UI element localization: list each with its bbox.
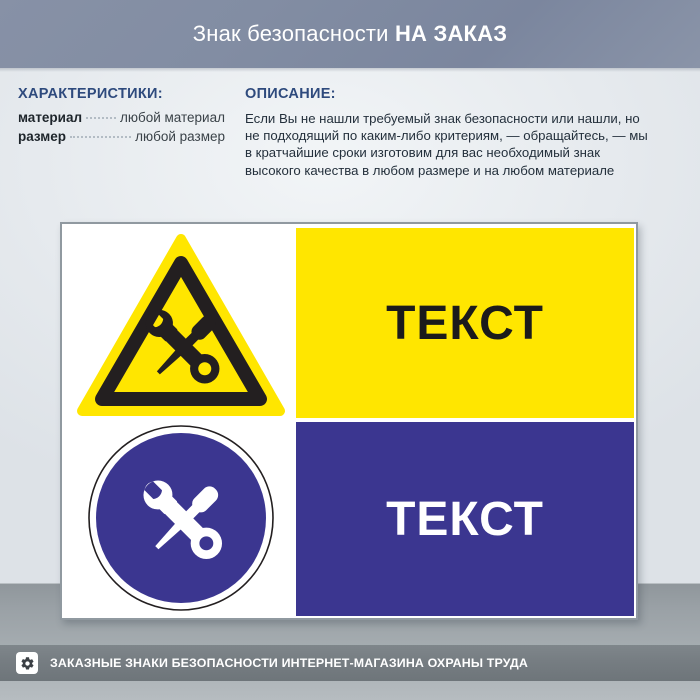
spec-leader-size	[70, 136, 131, 138]
sign-grid: ТЕКСТ ТЕКСТ	[62, 224, 636, 618]
page-header: Знак безопасности НА ЗАКАЗ	[0, 0, 700, 68]
tools-warning-icon	[76, 233, 286, 417]
blue-text-panel: ТЕКСТ	[296, 422, 634, 616]
page-title-regular: Знак безопасности	[193, 21, 395, 46]
info-section: ХАРАКТЕРИСТИКИ: материал любой материал …	[0, 86, 700, 179]
description-line-3: в кратчайшие сроки изготовим для вас нео…	[245, 144, 685, 161]
yellow-text-panel: ТЕКСТ	[296, 228, 634, 418]
poster-root: Знак безопасности НА ЗАКАЗ ХАРАКТЕРИСТИК…	[0, 0, 700, 700]
description-line-2: не подходящий по каким-либо критериям, —…	[245, 127, 685, 144]
footer-text: ЗАКАЗНЫЕ ЗНАКИ БЕЗОПАСНОСТИ ИНТЕРНЕТ-МАГ…	[50, 656, 528, 670]
page-footer: ЗАКАЗНЫЕ ЗНАКИ БЕЗОПАСНОСТИ ИНТЕРНЕТ-МАГ…	[0, 645, 700, 681]
specs-column: ХАРАКТЕРИСТИКИ: материал любой материал …	[0, 86, 225, 148]
circle-sign-cell	[70, 420, 292, 616]
yellow-panel-text: ТЕКСТ	[386, 296, 544, 351]
page-title-bold: НА ЗАКАЗ	[395, 21, 507, 46]
spec-row-size: размер любой размер	[18, 129, 225, 144]
gear-icon	[16, 652, 38, 674]
sign-preview-card: ТЕКСТ ТЕКСТ	[60, 222, 638, 620]
description-body: Если Вы не нашли требуемый знак безопасн…	[245, 110, 685, 179]
header-shadow	[0, 68, 700, 72]
description-column: ОПИСАНИЕ: Если Вы не нашли требуемый зна…	[225, 86, 685, 179]
page-title: Знак безопасности НА ЗАКАЗ	[193, 21, 507, 47]
description-line-4: высокого качества в любом размере и на л…	[245, 162, 685, 179]
spec-value-material: любой материал	[120, 110, 225, 125]
description-heading: ОПИСАНИЕ:	[245, 86, 685, 102]
spec-label-size: размер	[18, 129, 66, 144]
spec-label-material: материал	[18, 110, 82, 125]
spec-value-size: любой размер	[135, 129, 225, 144]
specs-heading: ХАРАКТЕРИСТИКИ:	[18, 86, 225, 102]
blue-panel-text: ТЕКСТ	[386, 492, 544, 547]
tools-mandatory-icon	[86, 423, 276, 613]
spec-row-material: материал любой материал	[18, 110, 225, 125]
description-line-1: Если Вы не нашли требуемый знак безопасн…	[245, 110, 685, 127]
triangle-sign-cell	[70, 230, 292, 420]
spec-leader-material	[86, 117, 116, 119]
